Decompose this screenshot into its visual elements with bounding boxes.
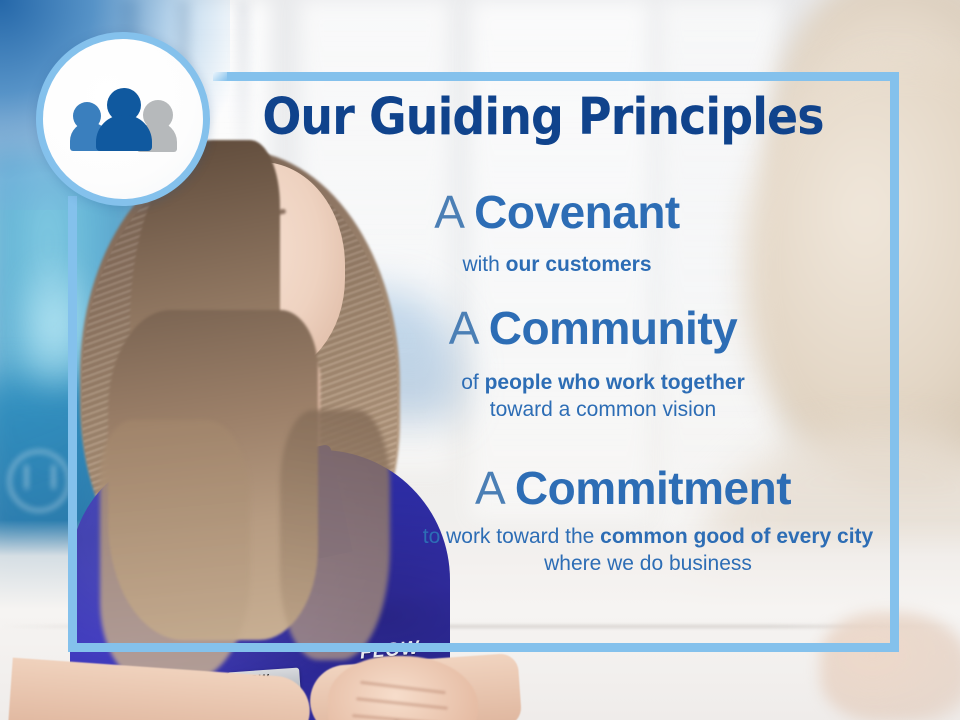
principle-1-keyword: Covenant <box>474 186 680 238</box>
principle-3-headline: A Commitment <box>383 464 883 513</box>
principle-1-article: A <box>434 186 474 238</box>
principle-2-detail: of people who work togethertoward a comm… <box>343 370 863 424</box>
principle-3-detail: to work toward the common good of every … <box>413 524 883 578</box>
principle-1-headline: A Covenant <box>297 188 817 237</box>
people-badge <box>36 32 210 206</box>
principle-1-detail: with our customers <box>297 252 817 279</box>
principles-content: Our Guiding Principles A Covenant with o… <box>213 72 899 652</box>
principle-2-keyword: Community <box>489 302 738 354</box>
principle-3-detail-plain-2: where we do business <box>544 552 752 575</box>
guiding-principles-graphic: FLOW FLOW AUTOMOTIVE <box>0 0 960 720</box>
principle-1-detail-bold-1: our customers <box>506 253 652 276</box>
principle-3-article: A <box>475 462 515 514</box>
principle-3-detail-bold-1: common good of every city <box>600 525 873 548</box>
principle-2-article: A <box>449 302 489 354</box>
principle-2-detail-bold-1: people who work together <box>485 371 745 394</box>
principle-2-detail-plain-1: of <box>461 371 484 394</box>
principle-2-headline: A Community <box>333 304 853 353</box>
page-title: Our Guiding Principles <box>246 92 840 143</box>
principle-3-keyword: Commitment <box>515 462 791 514</box>
principle-2-detail-plain-2: toward a common vision <box>490 398 716 421</box>
principle-3-detail-plain-1: to work toward the <box>423 525 600 548</box>
principle-1-detail-plain-1: with <box>462 253 505 276</box>
people-group-icon <box>71 88 175 150</box>
